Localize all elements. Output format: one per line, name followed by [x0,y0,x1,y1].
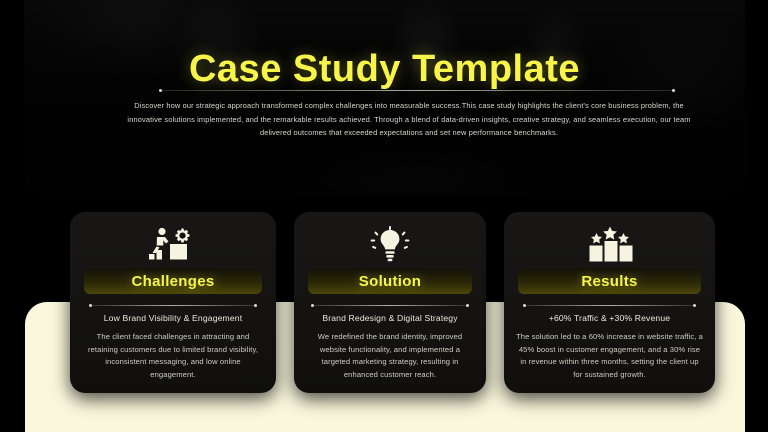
slide-canvas: Case Study Template Discover how our str… [0,0,768,432]
card-subtitle: Brand Redesign & Digital Strategy [302,313,478,323]
lightbulb-idea-icon [294,224,486,266]
card-title-badge: Results [518,268,701,294]
cards-row: Challenges Low Brand Visibility & Engage… [0,212,768,394]
card-subtitle: Low Brand Visibility & Engagement [78,313,268,323]
card-divider [524,305,695,306]
card-challenges[interactable]: Challenges Low Brand Visibility & Engage… [70,212,276,393]
hero-panel: Case Study Template Discover how our str… [24,0,745,195]
hero-divider [160,90,674,91]
card-title: Results [581,273,637,290]
card-subtitle: +60% Traffic & +30% Revenue [512,313,707,323]
card-results[interactable]: Results +60% Traffic & +30% Revenue The … [504,212,715,393]
card-body-text: The solution led to a 60% increase in we… [516,331,703,381]
person-climbing-steps-gear-icon [70,224,276,266]
page-title: Case Study Template [24,48,745,91]
card-title: Challenges [131,273,214,290]
card-solution[interactable]: Solution Brand Redesign & Digital Strate… [294,212,486,393]
card-divider [90,305,256,306]
hero-paragraph: Discover how our strategic approach tran… [120,99,698,140]
card-title-badge: Challenges [84,268,262,294]
card-body-text: We redefined the brand identity, improve… [306,331,474,381]
card-divider [312,305,468,306]
podium-bars-stars-icon [504,224,715,266]
card-title: Solution [359,273,421,290]
card-body-text: The client faced challenges in attractin… [82,331,264,381]
card-title-badge: Solution [308,268,472,294]
